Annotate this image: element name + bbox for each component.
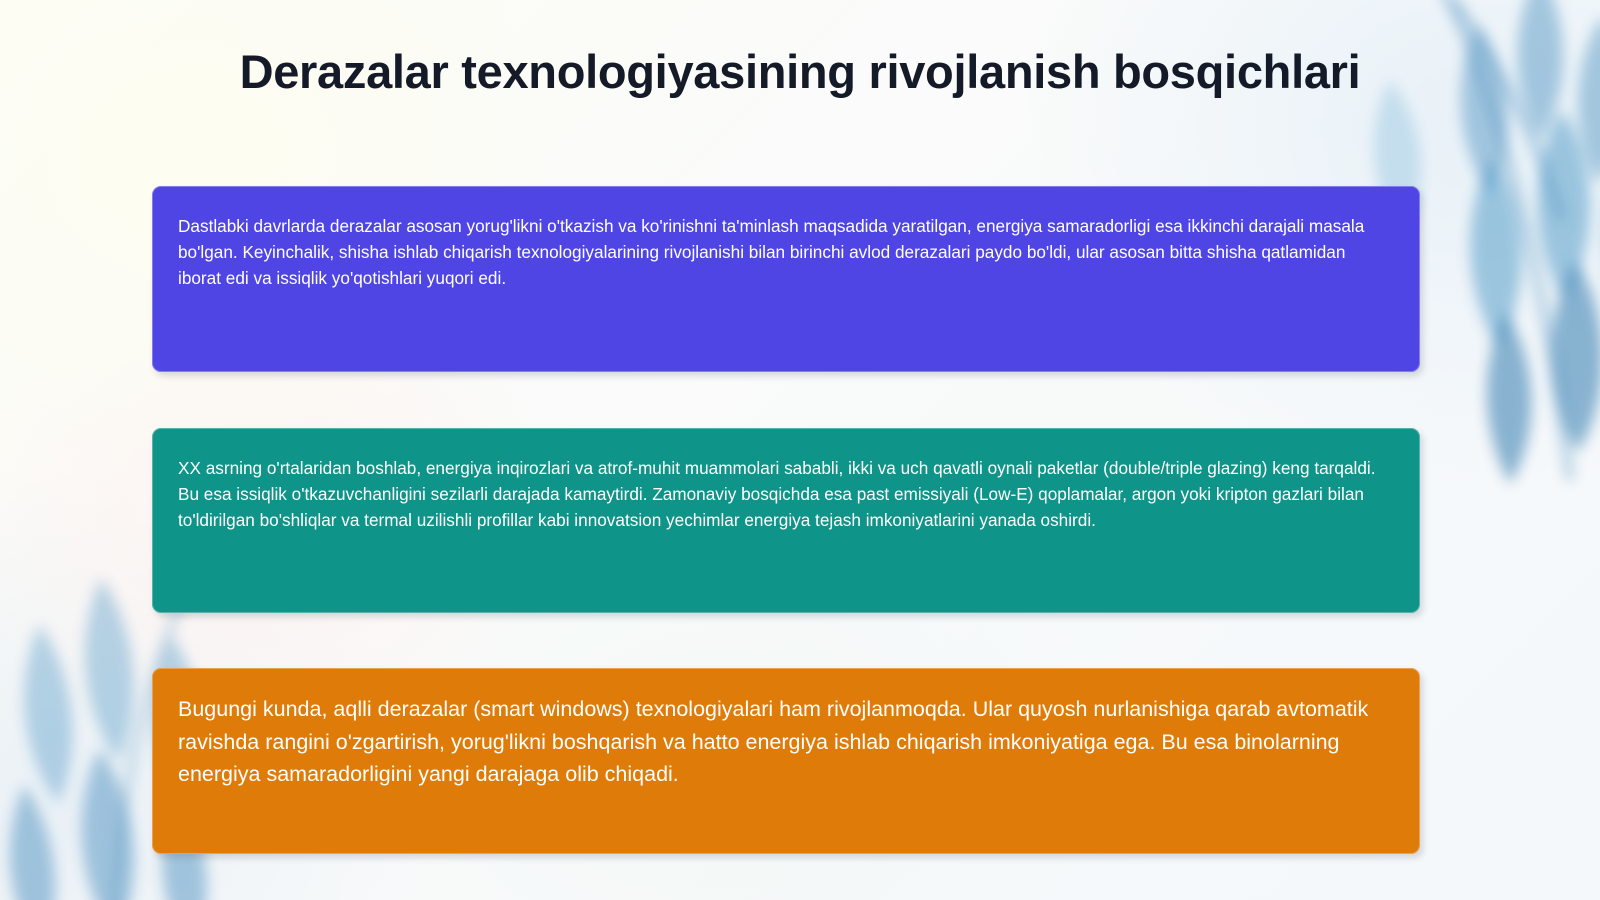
content-card-purple-text: Dastlabki davrlarda derazalar asosan yor… bbox=[178, 213, 1386, 291]
page-title: Derazalar texnologiyasining rivojlanish … bbox=[0, 44, 1600, 99]
content-card-teal-text: XX asrning o'rtalaridan boshlab, energiy… bbox=[178, 455, 1388, 533]
slide-content: Derazalar texnologiyasining rivojlanish … bbox=[0, 0, 1600, 900]
content-card-teal[interactable]: XX asrning o'rtalaridan boshlab, energiy… bbox=[152, 428, 1420, 613]
content-card-purple[interactable]: Dastlabki davrlarda derazalar asosan yor… bbox=[152, 186, 1420, 372]
content-card-list: Dastlabki davrlarda derazalar asosan yor… bbox=[152, 186, 1420, 854]
content-card-orange[interactable]: Bugungi kunda, aqlli derazalar (smart wi… bbox=[152, 668, 1420, 854]
content-card-orange-text: Bugungi kunda, aqlli derazalar (smart wi… bbox=[178, 693, 1386, 791]
